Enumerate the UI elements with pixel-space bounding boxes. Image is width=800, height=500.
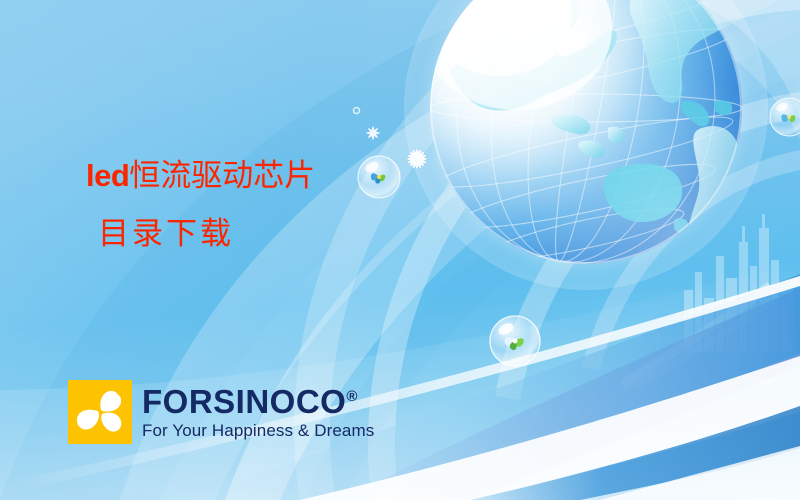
headline-cjk-phrase: 恒流驱动芯片 (129, 158, 315, 193)
promo-banner: led恒流驱动芯片 目录下载 FORSINOCO® For Your Happi… (0, 0, 800, 500)
company-logo: FORSINOCO® For Your Happiness & Dreams (68, 380, 374, 444)
promo-headline: led恒流驱动芯片 目录下载 (86, 160, 315, 249)
logo-text-block: FORSINOCO® For Your Happiness & Dreams (142, 385, 374, 439)
headline-line-1: led恒流驱动芯片 (86, 160, 315, 191)
company-tagline: For Your Happiness & Dreams (142, 422, 374, 439)
globe-continents-and-grid (430, 0, 742, 264)
headline-latin-word: led (86, 158, 129, 193)
company-name: FORSINOCO® (142, 385, 374, 418)
forsinoco-pinwheel-mark-icon (68, 380, 132, 444)
registered-trademark-symbol: ® (346, 388, 358, 405)
company-name-text: FORSINOCO (142, 383, 346, 420)
headline-line-2: 目录下载 (98, 218, 315, 249)
earth-globe (430, 0, 742, 264)
